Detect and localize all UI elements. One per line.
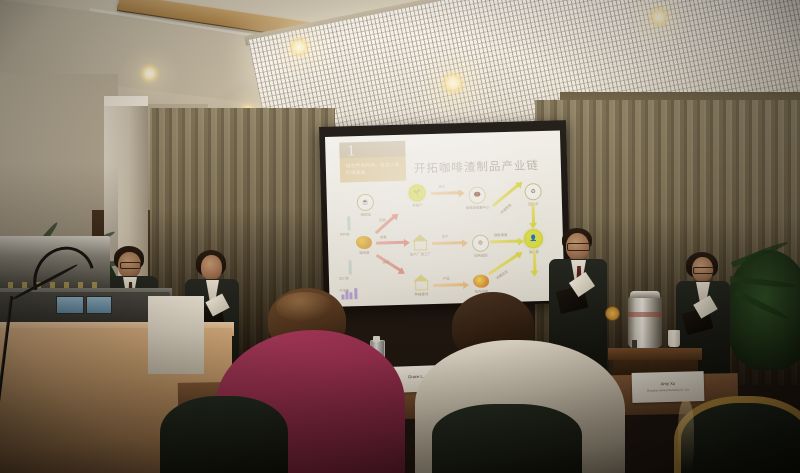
diagram-arrow-5 — [432, 241, 464, 245]
chair-foreground-right[interactable] — [432, 404, 582, 473]
diagram-node-n2[interactable]: 🌱 种植户 — [408, 184, 425, 201]
downlight-3 — [139, 63, 160, 84]
arrow-label: 回收 — [379, 217, 386, 222]
diagram-node-n6[interactable]: 生产厂 加工厂 — [412, 234, 428, 250]
arrow-label: 收集 — [380, 234, 387, 239]
diagram-side-label-1: 原料端 — [340, 232, 350, 237]
diagram-arrow-7 — [490, 240, 520, 244]
arrow-label: 产品 — [443, 276, 450, 281]
slide-title: 开拓咖啡渣制品产业链 — [414, 157, 539, 176]
diagram-arrow-6 — [433, 283, 465, 287]
arrow-label: 加工 — [438, 184, 445, 189]
node-label: 咖啡渣 — [359, 250, 369, 255]
diagram-side-label-2: 加工端 — [339, 276, 349, 281]
wall-clock-icon — [605, 306, 620, 321]
diagram-arrow-11 — [533, 251, 537, 273]
diagram-node-n10[interactable]: 花卉培育 — [473, 274, 489, 287]
grower-icon: 🌱 — [408, 184, 425, 201]
glasses-icon — [693, 267, 714, 274]
audience-hair-highlight — [276, 292, 334, 322]
paper-cup[interactable] — [668, 330, 680, 347]
coffee-urn-lid[interactable] — [630, 291, 660, 298]
glasses-icon — [120, 262, 141, 269]
chair-foreground-left[interactable] — [160, 396, 288, 473]
node-label: 咖啡渣收集中心 — [466, 205, 490, 210]
head — [201, 255, 222, 280]
bottle-cap[interactable] — [373, 336, 380, 342]
banquet-chair-highlight — [678, 400, 694, 473]
node-label: 种植户 — [412, 203, 422, 208]
coffee-urn-tap[interactable] — [632, 340, 637, 348]
cafe-icon: ☕ — [357, 194, 374, 211]
potted-palm-right — [726, 250, 800, 370]
diagram-node-n7[interactable]: ⚙ 压制成型 — [472, 234, 489, 251]
recycle-point-icon: ♻ — [524, 183, 541, 200]
slide-badge-number: 1 — [347, 143, 355, 160]
diagram-arrow-4 — [431, 191, 461, 195]
diagram-divider — [348, 260, 351, 274]
table-linen — [148, 296, 204, 374]
consumer-icon: 👤 — [524, 229, 544, 249]
av-monitor-2[interactable] — [86, 296, 112, 314]
mini-bar-chart — [341, 288, 357, 299]
diagram-node-n3[interactable]: 🍩 咖啡渣收集中心 — [468, 187, 485, 204]
diagram-arrow-2 — [376, 241, 406, 245]
projection-screen[interactable]: 1 结合甲虫时尚、社会以及环境效益 开拓咖啡渣制品产业链 原料端 加工端 市场端… — [325, 130, 565, 306]
glasses-icon — [567, 243, 590, 251]
slide-badge-subtitle: 结合甲虫时尚、社会以及环境效益 — [346, 161, 404, 177]
node-label: 种植基地 — [415, 292, 429, 297]
node-label: 咖啡馆 — [361, 212, 371, 217]
factory-house-icon — [412, 234, 428, 250]
arrow-label: 终端零售 — [499, 202, 513, 214]
downlight-2 — [441, 71, 465, 95]
node-label: 生产厂 加工厂 — [410, 252, 431, 257]
urn-side-table — [608, 348, 702, 360]
coffee-grounds-icon — [356, 236, 372, 249]
node-label: 压制成型 — [474, 253, 488, 258]
name-card-name: Amy Xu — [632, 380, 704, 387]
collection-icon: 🍩 — [468, 187, 485, 204]
name-card-company: Shanghai Jiuheng Marketing Co. Ltd. — [632, 388, 704, 393]
arrow-label: 生产 — [442, 234, 449, 239]
diagram-node-n4[interactable]: ♻ 回收点 — [524, 183, 541, 200]
flower-burst-icon — [473, 274, 489, 287]
arrow-label: 销售渠道 — [494, 232, 508, 237]
conference-room-photo: 1 结合甲虫时尚、社会以及环境效益 开拓咖啡渣制品产业链 原料端 加工端 市场端… — [0, 0, 800, 473]
slide-section-badge: 1 结合甲虫时尚、社会以及环境效益 — [339, 141, 406, 183]
diagram-arrow-10 — [531, 203, 535, 225]
coffee-urn-label-band — [628, 312, 662, 317]
name-card-1[interactable]: Amy Xu Shanghai Jiuheng Marketing Co. Lt… — [632, 371, 705, 403]
diagram-divider — [347, 216, 350, 230]
downlight-4 — [648, 6, 670, 28]
diagram-node-n1[interactable]: ☕ 咖啡馆 — [357, 194, 374, 211]
diagram-node-n8[interactable]: 👤 消费者 — [524, 229, 544, 249]
molding-icon: ⚙ — [472, 234, 489, 251]
arrow-label: 运输 — [382, 259, 389, 264]
plantation-house-icon — [413, 274, 429, 290]
diagram-node-n5[interactable]: 咖啡渣 — [356, 236, 372, 249]
downlight-1 — [288, 36, 310, 58]
diagram-node-n9[interactable]: 种植基地 — [413, 274, 429, 290]
